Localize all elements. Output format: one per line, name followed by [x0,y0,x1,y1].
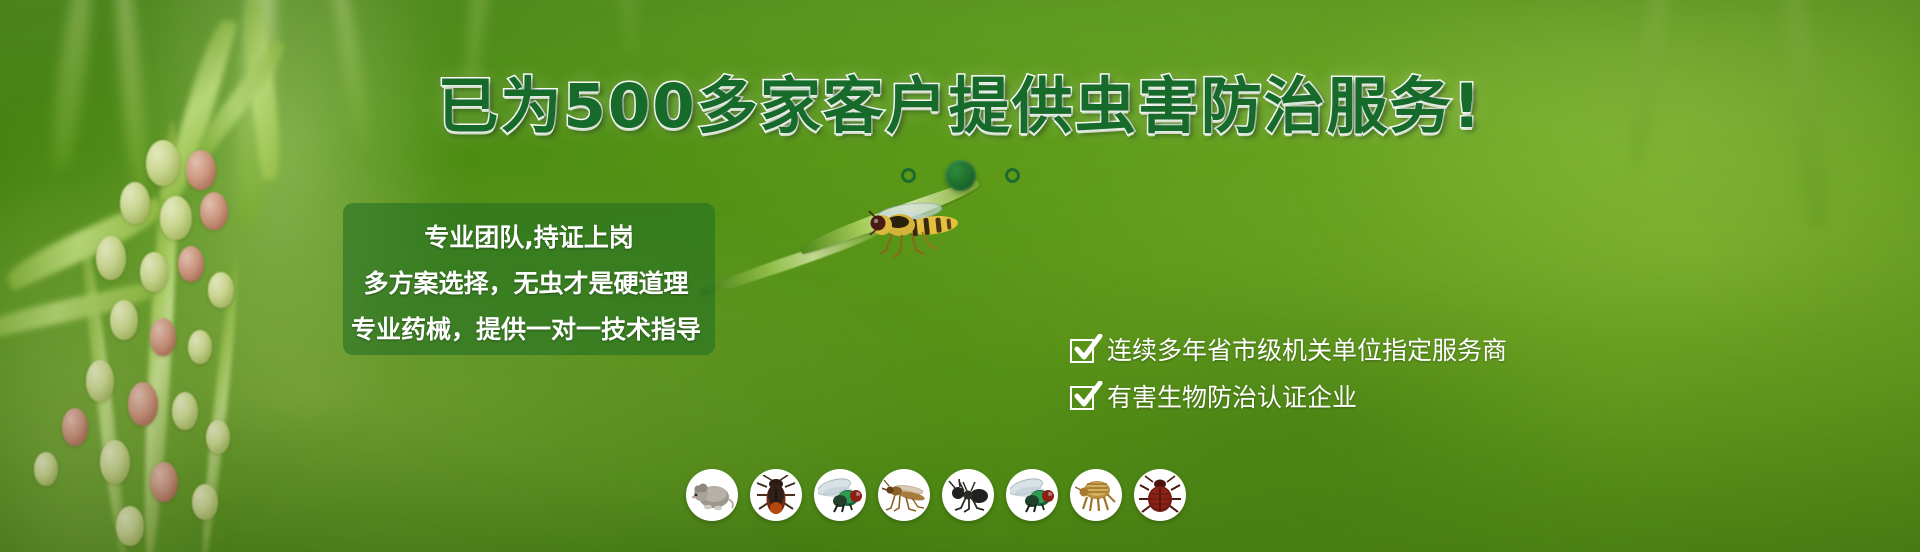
dot-small-right [1005,168,1020,183]
selling-point-line-1: 专业团队,持证上岗 [343,218,715,254]
dot-large-center [945,160,976,191]
decorative-dot-row [0,160,1920,191]
checkbox-checked-icon [1070,386,1094,410]
bedbug-icon[interactable] [1134,469,1186,521]
housefly-icon[interactable] [814,469,866,521]
dot-small-left [901,168,916,183]
selling-points-text: 专业团队,持证上岗 多方案选择，无虫才是硬道理 专业药械，提供一对一技术指导 [343,206,715,358]
blowfly-icon[interactable] [1006,469,1058,521]
pest-icon-row [686,469,1186,521]
promo-banner: 已为500多家客户提供虫害防治服务! 专业团队,持证上岗 多方案选择，无虫才是硬… [0,0,1920,552]
selling-point-line-3: 专业药械，提供一对一技术指导 [337,310,715,346]
mosquito-icon[interactable] [878,469,930,521]
checklist-item-label: 连续多年省市级机关单位指定服务商 [1107,338,1507,363]
ant-icon[interactable] [942,469,994,521]
selling-point-line-2: 多方案选择，无虫才是硬道理 [337,264,715,300]
cockroach-icon[interactable] [750,469,802,521]
checkbox-checked-icon [1070,339,1094,363]
flea-icon[interactable] [1070,469,1122,521]
checklist-item: 有害生物防治认证企业 [1070,385,1507,410]
mouse-icon[interactable] [686,469,738,521]
checklist-item-label: 有害生物防治认证企业 [1107,385,1357,410]
checklist-item: 连续多年省市级机关单位指定服务商 [1070,338,1507,363]
credentials-checklist: 连续多年省市级机关单位指定服务商 有害生物防治认证企业 [1070,338,1507,410]
